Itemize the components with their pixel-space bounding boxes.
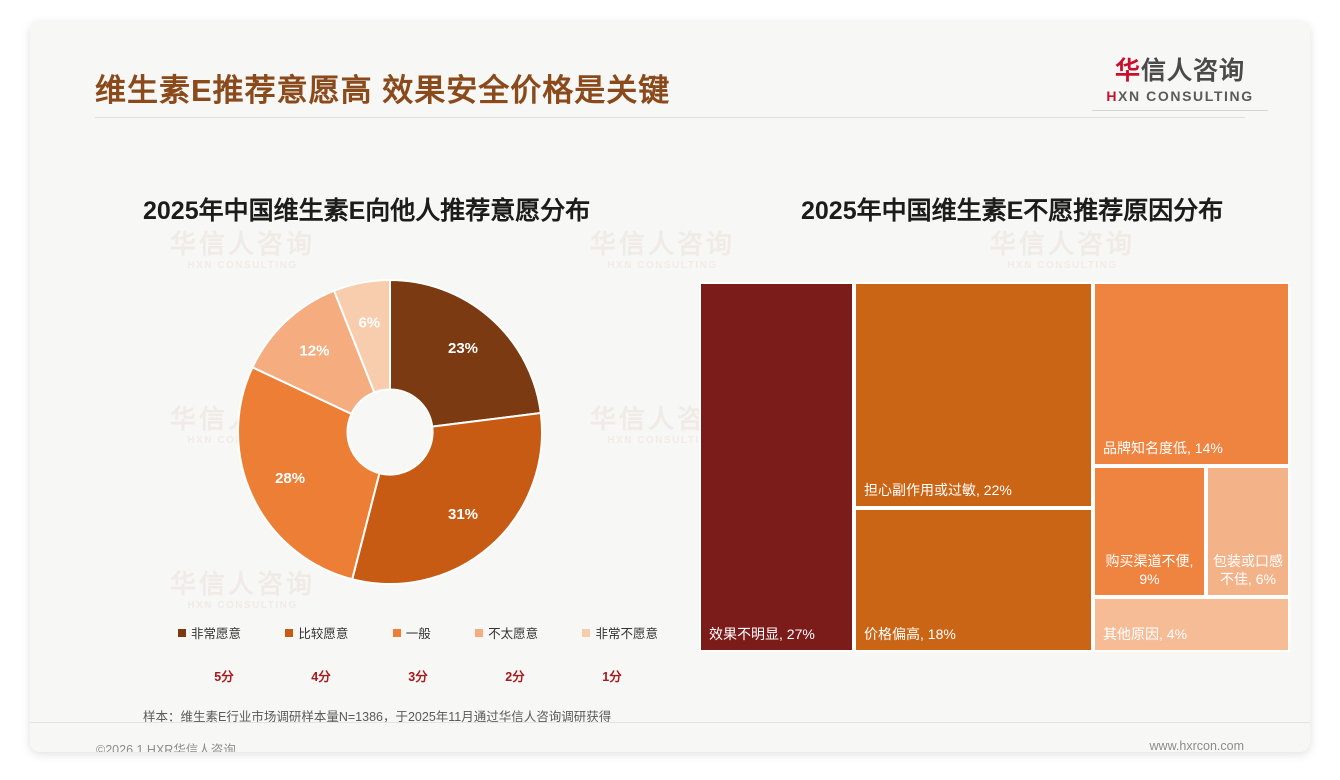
donut-slice-value-3: 28% [275,470,305,487]
recommendation-donut-chart: 23%31%28%12%6% [230,272,550,592]
score-label-2: 4分 [275,666,367,685]
logo-english-rest: XN CONSULTING [1118,88,1254,104]
watermark-cn: 华信人咨询 [990,230,1135,260]
donut-score-labels: 5分4分3分2分1分 [178,666,658,685]
donut-slice-value-1: 23% [448,340,478,357]
donut-slice-value-4: 12% [299,342,329,359]
legend-item-label: 非常愿意 [191,623,241,642]
treemap-cell-label: 包装或口感不佳, 6% [1212,553,1284,588]
watermark-en: HXN CONSULTING [590,260,735,272]
treemap-cell-label: 其他原因, 4% [1103,626,1282,644]
watermark-en: HXN CONSULTING [170,260,315,272]
page-title: 维生素E推荐意愿高 效果安全价格是关键 [95,65,670,110]
watermark-cn: 华信人咨询 [590,230,735,260]
score-label-3: 3分 [372,666,464,685]
footer-website: www.hxrcon.com [1150,739,1244,752]
watermark-en: HXN CONSULTING [170,600,315,612]
watermark: 华信人咨询 HXN CONSULTING [990,230,1135,271]
treemap-cell-3[interactable]: 价格偏高, 18% [854,508,1093,652]
treemap-cell-label: 担心副作用或过敏, 22% [864,482,1085,500]
watermark: 华信人咨询 HXN CONSULTING [590,230,735,271]
slide-canvas: 维生素E推荐意愿高 效果安全价格是关键 华信人咨询 HXN CONSULTING… [30,22,1310,752]
reasons-treemap-chart: 效果不明显, 27%担心副作用或过敏, 22%价格偏高, 18%品牌知名度低, … [699,282,1290,652]
treemap-cell-label: 效果不明显, 27% [709,626,846,644]
footer-divider [30,722,1310,723]
legend-item-label: 非常不愿意 [595,623,658,642]
logo-chinese-text: 华信人咨询 [1092,58,1268,84]
legend-swatch-icon [285,629,293,637]
treemap-cell-5[interactable]: 购买渠道不便, 9% [1093,466,1206,597]
donut-legend: 非常愿意比较愿意一般不太愿意非常不愿意 [178,623,658,642]
legend-item-1[interactable]: 非常愿意 [178,623,241,642]
legend-item-2[interactable]: 比较愿意 [285,623,348,642]
legend-swatch-icon [393,629,401,637]
score-label-1: 5分 [178,666,270,685]
watermark: 华信人咨询 HXN CONSULTING [170,230,315,271]
slide-header: 维生素E推荐意愿高 效果安全价格是关键 华信人咨询 HXN CONSULTING [30,22,1310,122]
treemap-cell-7[interactable]: 其他原因, 4% [1093,597,1290,652]
treemap-cell-label: 价格偏高, 18% [864,626,1085,644]
legend-item-4[interactable]: 不太愿意 [475,623,538,642]
watermark-en: HXN CONSULTING [990,260,1135,272]
score-label-5: 1分 [566,666,658,685]
legend-item-label: 一般 [406,623,431,642]
legend-item-5[interactable]: 非常不愿意 [582,623,658,642]
legend-swatch-icon [475,629,483,637]
legend-swatch-icon [582,629,590,637]
donut-slice-value-5: 6% [358,315,380,332]
donut-slices [238,280,542,584]
logo-chinese-rest: 信人咨询 [1141,57,1245,85]
treemap-cell-4[interactable]: 品牌知名度低, 14% [1093,282,1290,466]
logo-underline [1092,110,1268,111]
donut-slice-value-2: 31% [448,506,478,523]
legend-swatch-icon [178,629,186,637]
logo-english-text: HXN CONSULTING [1092,88,1268,104]
treemap-cell-2[interactable]: 担心副作用或过敏, 22% [854,282,1093,508]
legend-item-3[interactable]: 一般 [393,623,431,642]
donut-slice-2[interactable] [352,413,542,584]
logo-english-first-char: H [1106,88,1118,104]
treemap-cell-6[interactable]: 包装或口感不佳, 6% [1206,466,1290,597]
treemap-cell-1[interactable]: 效果不明显, 27% [699,282,854,652]
logo-chinese-first-char: 华 [1115,57,1141,85]
treemap-chart-title: 2025年中国维生素E不愿推荐原因分布 [801,191,1223,227]
donut-svg: 23%31%28%12%6% [230,272,550,592]
footer-copyright: ©2026.1 HXR华信人咨询 [96,739,236,752]
legend-item-label: 比较愿意 [298,623,348,642]
score-label-4: 2分 [469,666,561,685]
treemap-cell-label: 品牌知名度低, 14% [1103,440,1282,458]
legend-item-label: 不太愿意 [488,623,538,642]
watermark-cn: 华信人咨询 [170,230,315,260]
donut-chart-title: 2025年中国维生素E向他人推荐意愿分布 [143,191,590,227]
company-logo: 华信人咨询 HXN CONSULTING [1092,58,1268,111]
treemap-cell-label: 购买渠道不便, 9% [1099,553,1200,588]
header-divider [95,117,1245,118]
